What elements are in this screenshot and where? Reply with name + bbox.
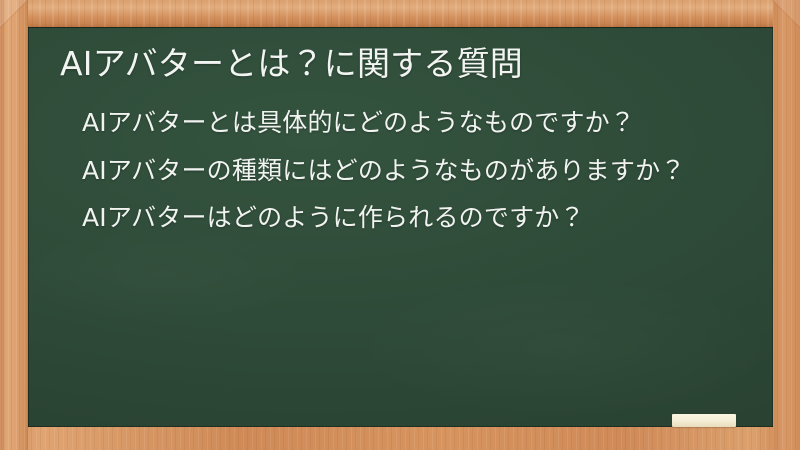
page-title: AIアバターとは？に関する質問 [60, 43, 747, 85]
chalkboard-surface: AIアバターとは？に関する質問 AIアバターとは具体的にどのようなものですか？ … [28, 27, 773, 427]
chalk-stick-icon [672, 414, 736, 427]
question-list: AIアバターとは具体的にどのようなものですか？ AIアバターの種類にはどのような… [54, 103, 747, 238]
chalkboard-content: AIアバターとは？に関する質問 AIアバターとは具体的にどのようなものですか？ … [28, 27, 773, 427]
frame-right-rail [773, 0, 800, 450]
frame-top-rail [0, 0, 800, 27]
frame-left-rail [0, 0, 28, 450]
chalkboard-slide: AIアバターとは？に関する質問 AIアバターとは具体的にどのようなものですか？ … [0, 0, 800, 450]
list-item: AIアバターはどのように作られるのですか？ [82, 198, 747, 238]
list-item: AIアバターとは具体的にどのようなものですか？ [82, 103, 747, 143]
list-item: AIアバターの種類にはどのようなものがありますか？ [82, 151, 747, 191]
